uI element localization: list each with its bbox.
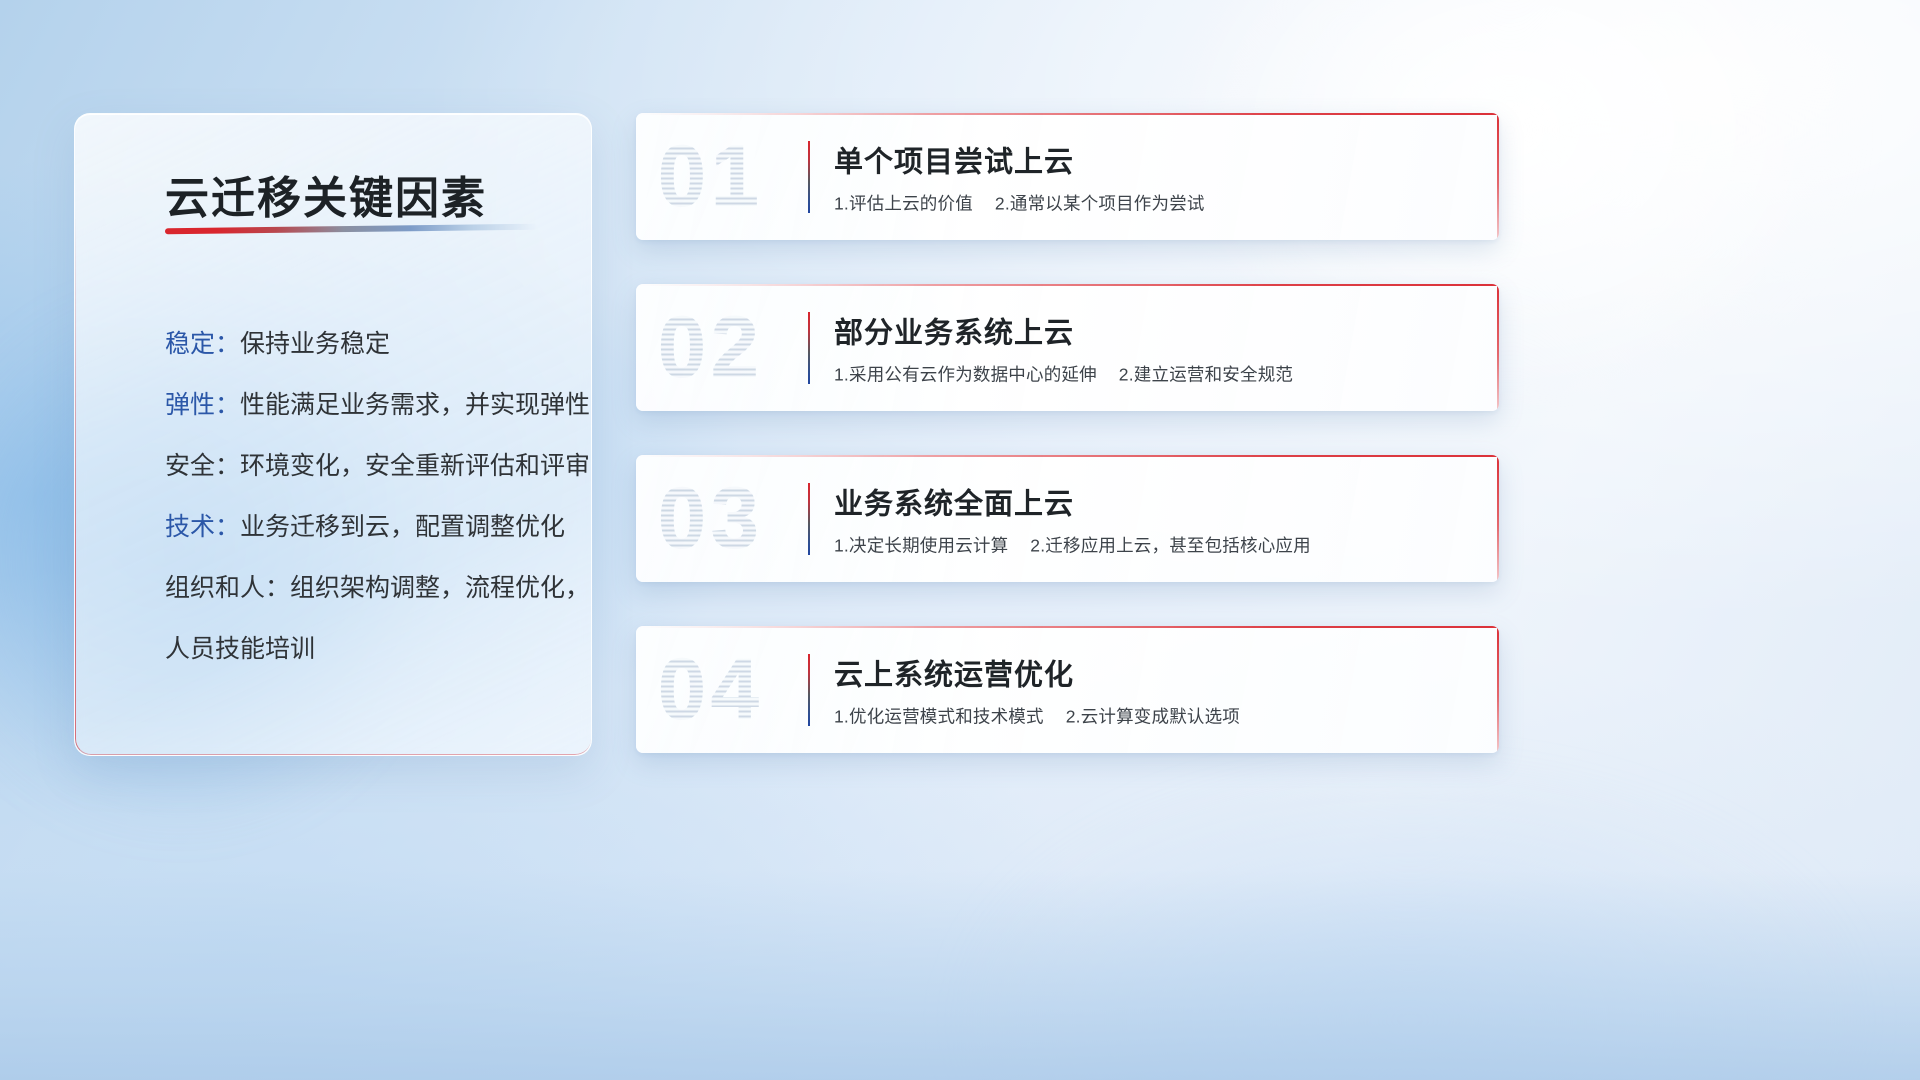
list-item: 稳定：保持业务稳定	[165, 314, 557, 375]
step-point-2: 2.云计算变成默认选项	[1066, 706, 1240, 726]
step-title: 业务系统全面上云	[834, 480, 1311, 522]
step-accent-bar	[808, 483, 810, 555]
step-card-03[interactable]: 03 业务系统全面上云 1.决定长期使用云计算2.迁移应用上云，甚至包括核心应用	[636, 455, 1499, 582]
list-item-text: 业务迁移到云，配置调整优化	[240, 513, 565, 541]
list-item-label: 组织和人：	[165, 574, 290, 602]
card-right-red-line	[1497, 455, 1499, 582]
card-top-red-line	[636, 284, 1499, 286]
step-number: 03	[658, 469, 764, 568]
list-item-text: 组织架构调整，流程优化，	[290, 574, 590, 602]
list-item-label: 弹性：	[165, 391, 240, 419]
step-title: 单个项目尝试上云	[834, 138, 1205, 180]
step-point-1: 1.评估上云的价值	[834, 193, 973, 213]
step-number: 01	[658, 127, 764, 226]
list-item-continuation: 人员技能培训	[165, 619, 557, 680]
step-point-1: 1.采用公有云作为数据中心的延伸	[834, 364, 1097, 384]
step-point-2: 2.建立运营和安全规范	[1119, 364, 1293, 384]
step-subtitle: 1.采用公有云作为数据中心的延伸2.建立运营和安全规范	[834, 361, 1293, 386]
card-right-red-line	[1497, 113, 1499, 240]
step-accent-bar	[808, 654, 810, 726]
step-point-1: 1.优化运营模式和技术模式	[834, 706, 1044, 726]
key-factors-list: 稳定：保持业务稳定 弹性：性能满足业务需求，并实现弹性 安全：环境变化，安全重新…	[165, 314, 557, 680]
step-body: 云上系统运营优化 1.优化运营模式和技术模式2.云计算变成默认选项	[834, 651, 1240, 728]
card-top-red-line	[636, 626, 1499, 628]
step-body: 部分业务系统上云 1.采用公有云作为数据中心的延伸2.建立运营和安全规范	[834, 309, 1293, 386]
card-top-red-line	[636, 113, 1499, 115]
step-card-01[interactable]: 01 单个项目尝试上云 1.评估上云的价值2.通常以某个项目作为尝试	[636, 113, 1499, 240]
step-card-02[interactable]: 02 部分业务系统上云 1.采用公有云作为数据中心的延伸2.建立运营和安全规范	[636, 284, 1499, 411]
slide-stage: 云迁移关键因素 稳定：保持业务稳定 弹性：性能满足业务需求，并实现弹性 安全：环…	[0, 0, 1920, 1080]
step-point-1: 1.决定长期使用云计算	[834, 535, 1008, 555]
list-item: 技术：业务迁移到云，配置调整优化	[165, 497, 557, 558]
list-item: 组织和人：组织架构调整，流程优化，	[165, 558, 557, 619]
step-number: 02	[658, 298, 764, 397]
step-subtitle: 1.评估上云的价值2.通常以某个项目作为尝试	[834, 190, 1205, 215]
card-top-red-line	[636, 455, 1499, 457]
list-item-label: 稳定：	[165, 330, 240, 358]
step-title: 云上系统运营优化	[834, 651, 1240, 693]
list-item-text: 保持业务稳定	[240, 330, 390, 358]
list-item: 弹性：性能满足业务需求，并实现弹性	[165, 375, 557, 436]
list-item-text: 性能满足业务需求，并实现弹性	[240, 391, 590, 419]
card-right-red-line	[1497, 284, 1499, 411]
step-subtitle: 1.决定长期使用云计算2.迁移应用上云，甚至包括核心应用	[834, 532, 1311, 557]
step-body: 业务系统全面上云 1.决定长期使用云计算2.迁移应用上云，甚至包括核心应用	[834, 480, 1311, 557]
list-item-label: 技术：	[165, 513, 240, 541]
step-body: 单个项目尝试上云 1.评估上云的价值2.通常以某个项目作为尝试	[834, 138, 1205, 215]
step-title: 部分业务系统上云	[834, 309, 1293, 351]
list-item-text: 人员技能培训	[165, 635, 315, 663]
step-point-2: 2.通常以某个项目作为尝试	[995, 193, 1205, 213]
key-factors-card: 云迁移关键因素 稳定：保持业务稳定 弹性：性能满足业务需求，并实现弹性 安全：环…	[74, 113, 592, 756]
card-right-red-line	[1497, 626, 1499, 753]
step-card-04[interactable]: 04 云上系统运营优化 1.优化运营模式和技术模式2.云计算变成默认选项	[636, 626, 1499, 753]
step-accent-bar	[808, 312, 810, 384]
list-item: 安全：环境变化，安全重新评估和评审	[165, 436, 557, 497]
step-number: 04	[658, 640, 764, 739]
step-subtitle: 1.优化运营模式和技术模式2.云计算变成默认选项	[834, 703, 1240, 728]
list-item-label: 安全：	[165, 452, 240, 480]
list-item-text: 环境变化，安全重新评估和评审	[240, 452, 590, 480]
step-accent-bar	[808, 141, 810, 213]
step-point-2: 2.迁移应用上云，甚至包括核心应用	[1030, 535, 1311, 555]
page-title: 云迁移关键因素	[165, 162, 487, 226]
